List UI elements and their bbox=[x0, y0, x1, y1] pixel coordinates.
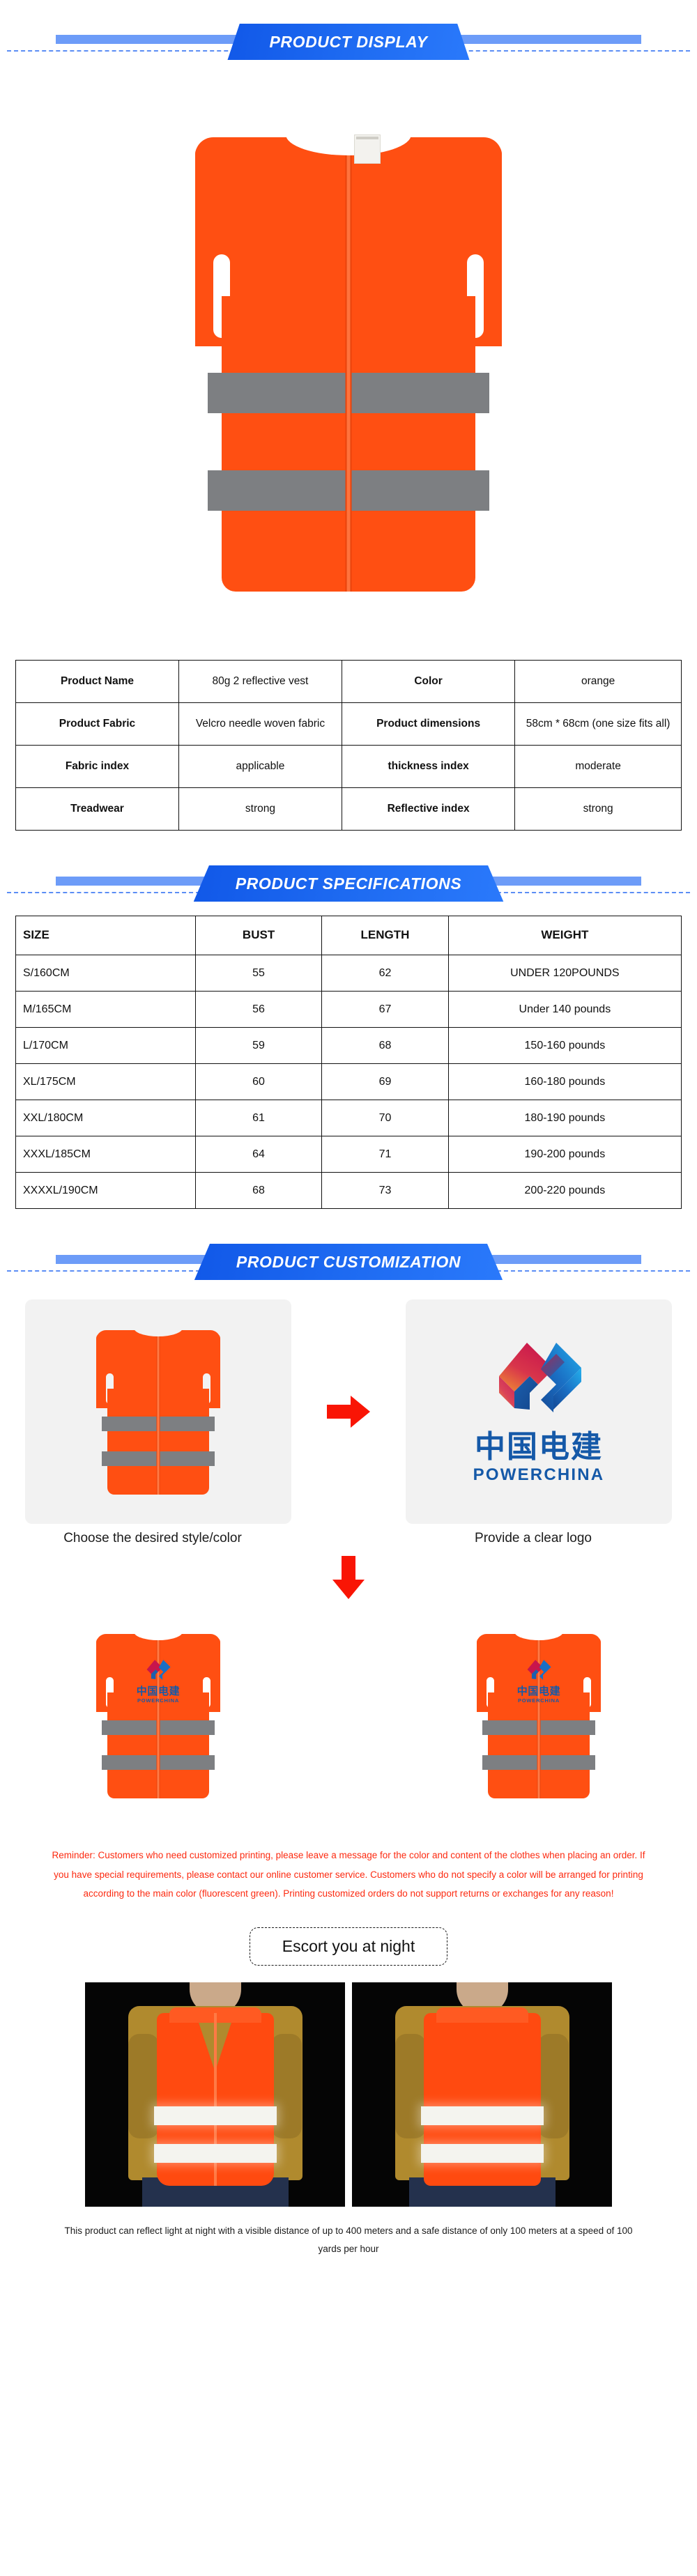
arrow-right-gap bbox=[291, 1396, 406, 1428]
spec-weight: 150-160 pounds bbox=[448, 1028, 681, 1064]
banner-title-customization: PRODUCT CUSTOMIZATION bbox=[236, 1253, 461, 1272]
spec-length: 71 bbox=[322, 1136, 448, 1173]
printed-powerchina-logo: 中国电建 POWERCHINA bbox=[128, 1659, 189, 1704]
spec-length: 73 bbox=[322, 1173, 448, 1209]
spec-weight: 190-200 pounds bbox=[448, 1136, 681, 1173]
spec-header-length: LENGTH bbox=[322, 916, 448, 955]
reflective-stripe-upper bbox=[154, 2106, 277, 2125]
spec-length: 70 bbox=[322, 1100, 448, 1136]
info-value: strong bbox=[515, 788, 682, 831]
banner-product-specifications: PRODUCT SPECIFICATIONS bbox=[0, 860, 697, 906]
powerchina-diamond-mark-icon bbox=[143, 1659, 174, 1683]
printed-powerchina-logo: 中国电建 POWERCHINA bbox=[508, 1659, 569, 1704]
spec-bust: 61 bbox=[195, 1100, 321, 1136]
banner-notch-left-icon bbox=[185, 865, 194, 876]
powerchina-logo: 中国电建 POWERCHINA bbox=[128, 1659, 189, 1704]
top-spacer bbox=[0, 0, 697, 18]
table-row: L/170CM 59 68 150-160 pounds bbox=[16, 1028, 682, 1064]
reflective-stripe-lower bbox=[154, 2144, 277, 2163]
person-front-view bbox=[85, 1982, 345, 2207]
banner-center: PRODUCT DISPLAY bbox=[227, 24, 469, 60]
info-key: Treadwear bbox=[16, 788, 179, 831]
vest-illustration-printed-left: 中国电建 POWERCHINA bbox=[96, 1628, 220, 1803]
powerchina-logo-en: POWERCHINA bbox=[508, 1698, 569, 1704]
product-info-table: Product Name 80g 2 reflective vest Color… bbox=[15, 660, 682, 831]
spec-bust: 59 bbox=[195, 1028, 321, 1064]
vest-illustration-plain bbox=[96, 1325, 220, 1499]
powerchina-diamond-mark-icon bbox=[487, 1340, 591, 1422]
table-row: Fabric index applicable thickness index … bbox=[16, 746, 682, 788]
spec-header-weight: WEIGHT bbox=[448, 916, 681, 955]
caption-choose-style: Choose the desired style/color bbox=[20, 1531, 286, 1546]
banner-notch-left-icon bbox=[186, 1244, 195, 1254]
banner-center: PRODUCT SPECIFICATIONS bbox=[194, 865, 504, 902]
arrow-head bbox=[332, 1580, 365, 1599]
vest-illustration-front bbox=[195, 122, 502, 603]
info-key: Reflective index bbox=[342, 788, 514, 831]
banner-title-specifications: PRODUCT SPECIFICATIONS bbox=[236, 874, 462, 893]
spec-size: L/170CM bbox=[16, 1028, 196, 1064]
table-row: Treadwear strong Reflective index strong bbox=[16, 788, 682, 831]
powerchina-logo-en: POWERCHINA bbox=[473, 1467, 605, 1483]
info-value: moderate bbox=[515, 746, 682, 788]
vest-illustration-printed-right: 中国电建 POWERCHINA bbox=[477, 1628, 601, 1803]
reflective-stripe-lower bbox=[421, 2144, 544, 2163]
reflective-stripe-upper bbox=[421, 2106, 544, 2125]
night-photo-back bbox=[352, 1982, 612, 2207]
banner-shape: PRODUCT SPECIFICATIONS bbox=[194, 865, 504, 902]
spec-length: 69 bbox=[322, 1064, 448, 1100]
night-photo-row bbox=[0, 1982, 697, 2207]
table-header-row: SIZE BUST LENGTH WEIGHT bbox=[16, 916, 682, 955]
spec-size: XL/175CM bbox=[16, 1064, 196, 1100]
spacer-before-spec-table bbox=[0, 906, 697, 916]
table-row: XXL/180CM 61 70 180-190 pounds bbox=[16, 1100, 682, 1136]
spec-length: 67 bbox=[322, 992, 448, 1028]
care-label-line-4 bbox=[356, 139, 378, 139]
table-row: XXXXL/190CM 68 73 200-220 pounds bbox=[16, 1173, 682, 1209]
spec-size: XXL/180CM bbox=[16, 1100, 196, 1136]
banner-notch-right-icon bbox=[502, 1244, 511, 1254]
powerchina-logo-cn: 中国电建 bbox=[508, 1686, 569, 1697]
night-photo-front bbox=[85, 1982, 345, 2207]
banner-shape: PRODUCT CUSTOMIZATION bbox=[194, 1244, 503, 1280]
banner-product-display: PRODUCT DISPLAY bbox=[0, 18, 697, 64]
size-spec-table: SIZE BUST LENGTH WEIGHT S/160CM 55 62 UN… bbox=[15, 916, 682, 1209]
powerchina-logo-en: POWERCHINA bbox=[128, 1698, 189, 1704]
info-value: strong bbox=[178, 788, 342, 831]
info-key: thickness index bbox=[342, 746, 514, 788]
spec-size: S/160CM bbox=[16, 955, 196, 992]
caption-provide-logo: Provide a clear logo bbox=[400, 1531, 666, 1546]
night-footer-note: This product can reflect light at night … bbox=[0, 2222, 697, 2259]
powerchina-logo-cn: 中国电建 bbox=[473, 1432, 605, 1463]
table-row: Product Name 80g 2 reflective vest Color… bbox=[16, 661, 682, 703]
banner-notch-right-icon bbox=[503, 865, 512, 876]
vest-collar bbox=[436, 2007, 528, 2023]
arrow-stem bbox=[327, 1405, 351, 1419]
info-key: Product dimensions bbox=[342, 703, 514, 746]
banner-center: PRODUCT CUSTOMIZATION bbox=[194, 1244, 503, 1280]
table-row: M/165CM 56 67 Under 140 pounds bbox=[16, 992, 682, 1028]
customized-vest-left: 中国电建 POWERCHINA bbox=[25, 1603, 291, 1828]
customization-reminder-text: Reminder: Customers who need customized … bbox=[0, 1846, 697, 1904]
customized-vest-right: 中国电建 POWERCHINA bbox=[406, 1603, 672, 1828]
spec-size: M/165CM bbox=[16, 992, 196, 1028]
arrow-head bbox=[351, 1396, 370, 1428]
banner-title-display: PRODUCT DISPLAY bbox=[269, 33, 427, 52]
arrow-right-icon bbox=[327, 1396, 370, 1428]
customization-style-card bbox=[25, 1299, 291, 1524]
info-key: Product Name bbox=[16, 661, 179, 703]
spec-weight: UNDER 120POUNDS bbox=[448, 955, 681, 992]
night-heading-wrap: Escort you at night bbox=[0, 1927, 697, 1966]
spec-header-bust: BUST bbox=[195, 916, 321, 955]
vest-front-opening bbox=[157, 1334, 160, 1495]
customization-captions: Choose the desired style/color Provide a… bbox=[0, 1531, 697, 1546]
spec-header-size: SIZE bbox=[16, 916, 196, 955]
spec-weight: Under 140 pounds bbox=[448, 992, 681, 1028]
info-value: 58cm * 68cm (one size fits all) bbox=[515, 703, 682, 746]
spec-length: 62 bbox=[322, 955, 448, 992]
banner-notch-right-icon bbox=[469, 24, 478, 34]
banner-notch-left-icon bbox=[219, 24, 228, 34]
info-value: Velcro needle woven fabric bbox=[178, 703, 342, 746]
spec-table-wrap: SIZE BUST LENGTH WEIGHT S/160CM 55 62 UN… bbox=[0, 916, 697, 1209]
spacer-before-cust-banner bbox=[0, 1209, 697, 1238]
table-row: XL/175CM 60 69 160-180 pounds bbox=[16, 1064, 682, 1100]
table-row: S/160CM 55 62 UNDER 120POUNDS bbox=[16, 955, 682, 992]
table-row: XXXL/185CM 64 71 190-200 pounds bbox=[16, 1136, 682, 1173]
arrow-stem bbox=[342, 1556, 355, 1580]
spacer-before-spec-banner bbox=[0, 831, 697, 860]
escort-at-night-label: Escort you at night bbox=[250, 1927, 448, 1966]
vest-care-label bbox=[354, 134, 381, 164]
spec-bust: 60 bbox=[195, 1064, 321, 1100]
spec-bust: 56 bbox=[195, 992, 321, 1028]
table-row: Product Fabric Velcro needle woven fabri… bbox=[16, 703, 682, 746]
info-table-wrap: Product Name 80g 2 reflective vest Color… bbox=[0, 660, 697, 831]
info-key: Color bbox=[342, 661, 514, 703]
spec-bust: 64 bbox=[195, 1136, 321, 1173]
powerchina-logo: 中国电建 POWERCHINA bbox=[508, 1659, 569, 1704]
spec-size: XXXL/185CM bbox=[16, 1136, 196, 1173]
info-key: Fabric index bbox=[16, 746, 179, 788]
banner-shape: PRODUCT DISPLAY bbox=[227, 24, 469, 60]
info-value: 80g 2 reflective vest bbox=[178, 661, 342, 703]
powerchina-logo-cn: 中国电建 bbox=[128, 1686, 189, 1697]
powerchina-diamond-mark-icon bbox=[523, 1659, 554, 1683]
hero-product-image bbox=[0, 64, 697, 660]
arrow-down-icon bbox=[332, 1556, 365, 1599]
spec-length: 68 bbox=[322, 1028, 448, 1064]
info-value: applicable bbox=[178, 746, 342, 788]
vest-front-opening bbox=[346, 146, 352, 592]
customization-logo-card: 中国电建 POWERCHINA bbox=[406, 1299, 672, 1524]
spec-bust: 55 bbox=[195, 955, 321, 992]
powerchina-logo: 中国电建 POWERCHINA bbox=[473, 1340, 605, 1483]
info-key: Product Fabric bbox=[16, 703, 179, 746]
spec-weight: 180-190 pounds bbox=[448, 1100, 681, 1136]
spacer-before-cust-row bbox=[0, 1284, 697, 1299]
banner-product-customization: PRODUCT CUSTOMIZATION bbox=[0, 1238, 697, 1284]
customization-bottom-row: 中国电建 POWERCHINA bbox=[0, 1603, 697, 1828]
customization-top-row: 中国电建 POWERCHINA bbox=[0, 1299, 697, 1524]
spec-weight: 160-180 pounds bbox=[448, 1064, 681, 1100]
person-back-view bbox=[352, 1982, 612, 2207]
info-value: orange bbox=[515, 661, 682, 703]
spec-weight: 200-220 pounds bbox=[448, 1173, 681, 1209]
spec-size: XXXXL/190CM bbox=[16, 1173, 196, 1209]
spec-bust: 68 bbox=[195, 1173, 321, 1209]
